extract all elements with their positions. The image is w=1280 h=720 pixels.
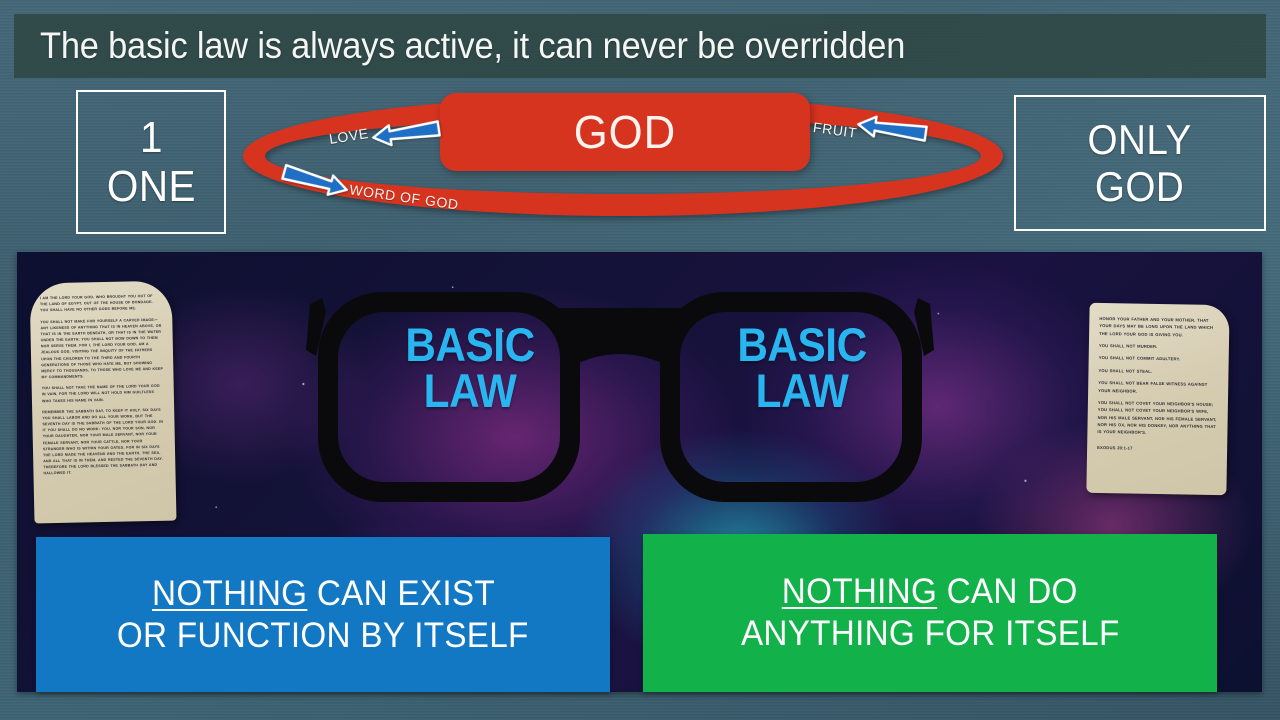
statement-blue-rest: CAN EXIST bbox=[307, 574, 495, 613]
tablet-right-paragraph: You shall not steal. bbox=[1098, 367, 1218, 376]
lens-left-line-1: BASIC bbox=[398, 322, 542, 368]
tablet-left-paragraph: Remember the Sabbath day, to keep it hol… bbox=[42, 406, 165, 476]
statement-blue-line-2: OR FUNCTION BY ITSELF bbox=[117, 615, 529, 657]
slide-canvas: The basic law is always active, it can n… bbox=[0, 0, 1280, 720]
tablet-left-paragraph: I am the Lord your God, who brought you … bbox=[40, 293, 162, 314]
left-caption-box: 1 ONE bbox=[76, 90, 226, 234]
tablet-left-text: I am the Lord your God, who brought you … bbox=[40, 293, 166, 477]
tablet-right-paragraph: Honor your father and your mother, that … bbox=[1099, 315, 1219, 339]
statement-green-rest: CAN DO bbox=[937, 572, 1078, 611]
stone-tablet-right: Honor your father and your mother, that … bbox=[1086, 303, 1229, 495]
tablet-right-paragraph: You shall not bear false witness against… bbox=[1098, 379, 1218, 396]
statement-blue-line-1: NOTHING CAN EXIST bbox=[152, 573, 495, 615]
tablet-left-paragraph: You shall not take the name of the Lord … bbox=[42, 383, 164, 404]
lens-right-line-2: LAW bbox=[730, 368, 874, 414]
lens-right-line-1: BASIC bbox=[730, 322, 874, 368]
right-caption-box: ONLY GOD bbox=[1014, 95, 1266, 231]
left-caption-line-1: 1 bbox=[139, 113, 162, 162]
tablet-right-text: Honor your father and your mother, that … bbox=[1097, 315, 1219, 453]
tablet-left-paragraph: You shall not make for yourself a carved… bbox=[40, 316, 163, 380]
lens-text-left: BASIC LAW bbox=[398, 322, 542, 414]
statement-green-line-2: ANYTHING FOR ITSELF bbox=[741, 613, 1120, 655]
statement-box-green: NOTHING CAN DO ANYTHING FOR ITSELF bbox=[643, 534, 1217, 692]
lens-left-line-2: LAW bbox=[398, 368, 542, 414]
tablet-right-paragraph: You shall not commit adultery. bbox=[1099, 354, 1219, 363]
tablet-right-reference: Exodus 20:1-17 bbox=[1097, 444, 1217, 453]
tablet-right-paragraph: You shall not murder. bbox=[1099, 342, 1219, 351]
right-caption-line-1: ONLY bbox=[1088, 116, 1192, 163]
god-center-box: GOD bbox=[440, 93, 810, 171]
god-label: GOD bbox=[574, 105, 676, 159]
statement-green-emphasis: NOTHING bbox=[782, 572, 937, 611]
title-banner: The basic law is always active, it can n… bbox=[14, 14, 1266, 78]
statement-box-blue: NOTHING CAN EXIST OR FUNCTION BY ITSELF bbox=[36, 537, 610, 692]
right-caption-line-2: GOD bbox=[1095, 163, 1184, 210]
page-title: The basic law is always active, it can n… bbox=[40, 25, 905, 67]
tablet-right-paragraph: You shall not covet your neighbor's hous… bbox=[1097, 399, 1218, 438]
statement-green-line-1: NOTHING CAN DO bbox=[782, 571, 1078, 613]
stone-tablet-left: I am the Lord your God, who brought you … bbox=[30, 281, 177, 524]
statement-blue-emphasis: NOTHING bbox=[152, 574, 307, 613]
lens-text-right: BASIC LAW bbox=[730, 322, 874, 414]
left-caption-line-2: ONE bbox=[106, 162, 195, 211]
